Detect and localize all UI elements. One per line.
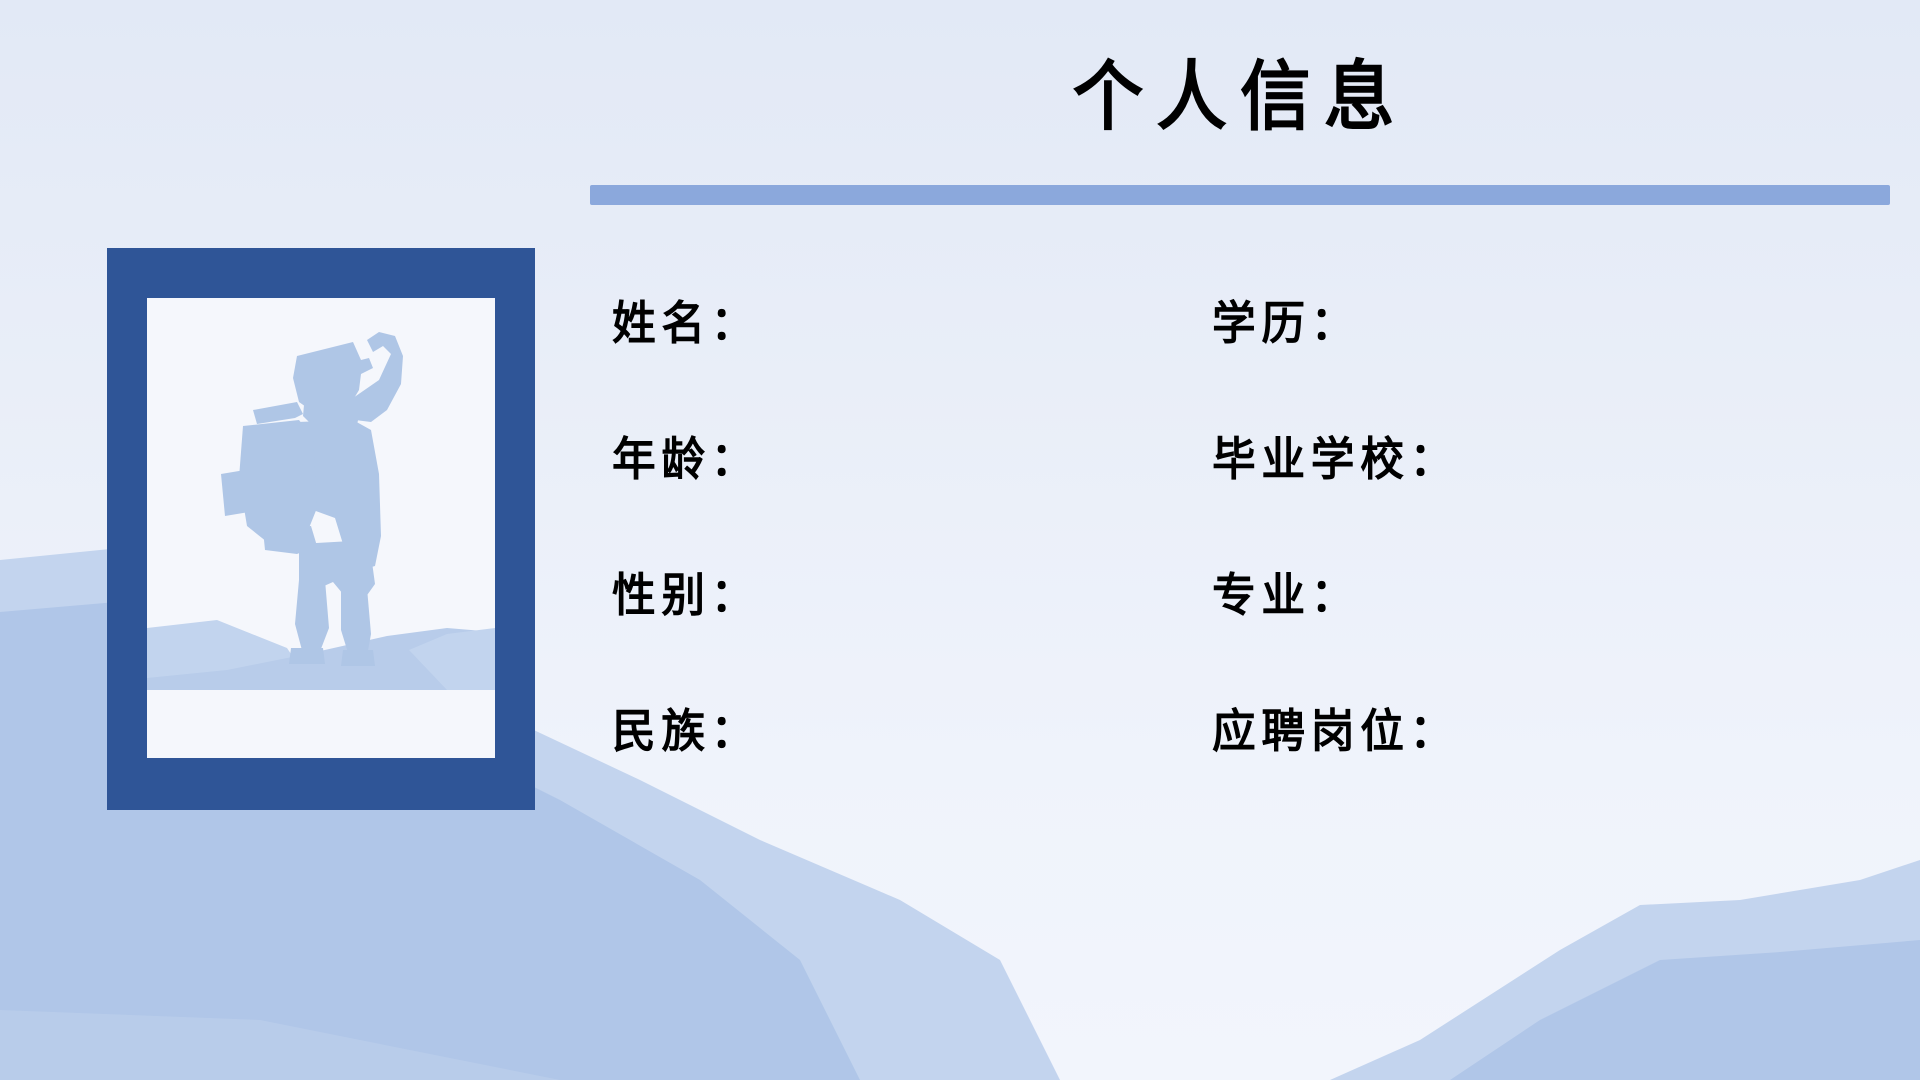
field-label-applied-position: 应聘岗位： [1212, 708, 1687, 754]
page-title: 个人信息 [636, 58, 1845, 138]
slide-canvas: 个人信息 [0, 0, 1920, 1080]
title-underline-bar [590, 185, 1890, 205]
field-label-gender: 性别： [612, 572, 1182, 618]
title-block: 个人信息 [590, 58, 1890, 138]
field-label-school: 毕业学校： [1212, 436, 1687, 482]
field-label-ethnicity: 民族： [612, 708, 1182, 754]
hiker-silhouette-icon [147, 298, 495, 758]
info-fields-grid: 姓名： 学历： 年龄： 毕业学校： 性别： 专业： 民族： 应聘岗位： [612, 300, 1712, 844]
mountain-right-front-shape [1450, 940, 1920, 1080]
field-label-major: 专业： [1212, 572, 1687, 618]
hiker-figure [221, 332, 403, 666]
field-label-age: 年龄： [612, 436, 1182, 482]
mountain-lower-left-shape [0, 1010, 560, 1080]
photo-frame[interactable] [107, 248, 535, 810]
photo-placeholder[interactable] [147, 298, 495, 758]
field-label-name: 姓名： [612, 300, 1182, 346]
mountain-right-shape [1330, 860, 1920, 1080]
field-label-education: 学历： [1212, 300, 1687, 346]
